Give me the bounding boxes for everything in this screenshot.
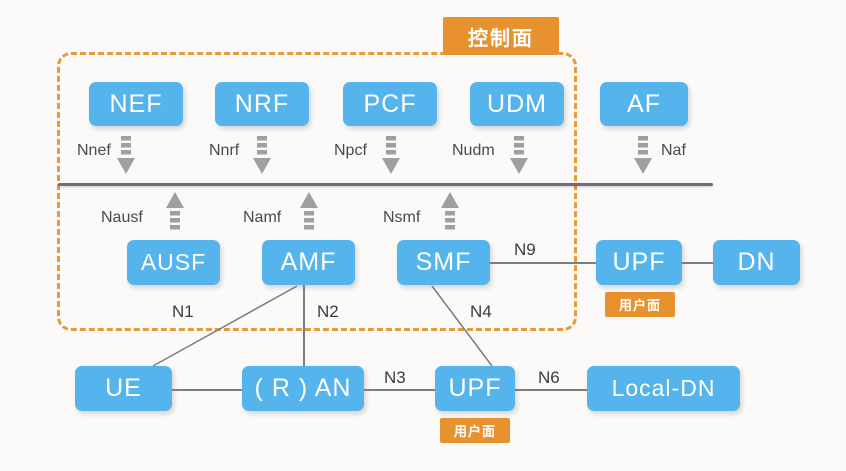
link-n3	[364, 389, 435, 391]
nf-box-local-dn[interactable]: Local-DN	[587, 366, 740, 411]
service-bus-arrow-up-icon	[299, 190, 319, 236]
service-bus-arrow-down-icon	[509, 136, 529, 182]
service-bus-arrow-down-icon	[252, 136, 272, 182]
service-based-interface-bus	[58, 183, 713, 186]
user-plane-tag-upf-bottom: 用户面	[440, 418, 510, 443]
service-label-namf: Namf	[243, 209, 281, 227]
control-plane-label: 控制面	[443, 17, 559, 55]
nf-box-af[interactable]: AF	[600, 82, 688, 126]
nf-box-amf[interactable]: AMF	[262, 240, 355, 285]
reference-point-label-n3: N3	[384, 368, 406, 388]
link-n6	[515, 389, 587, 391]
nf-box-nrf[interactable]: NRF	[215, 82, 309, 126]
link-upf-dn	[682, 262, 713, 264]
service-bus-arrow-up-icon	[440, 190, 460, 236]
service-label-naf: Naf	[661, 142, 686, 160]
nf-box-ausf[interactable]: AUSF	[127, 240, 220, 285]
user-plane-tag-upf-middle: 用户面	[605, 292, 675, 317]
nf-box-udm[interactable]: UDM	[470, 82, 564, 126]
service-label-nausf: Nausf	[101, 209, 143, 227]
service-label-nudm: Nudm	[452, 142, 495, 160]
nf-box-ran[interactable]: ( R ) AN	[242, 366, 364, 411]
reference-point-label-n1: N1	[172, 302, 194, 322]
service-label-npcf: Npcf	[334, 142, 367, 160]
nf-box-ue[interactable]: UE	[75, 366, 172, 411]
service-label-nnrf: Nnrf	[209, 142, 239, 160]
service-bus-arrow-down-icon	[381, 136, 401, 182]
service-bus-arrow-down-icon	[633, 136, 653, 182]
reference-point-label-n6: N6	[538, 368, 560, 388]
service-bus-arrow-down-icon	[116, 136, 136, 182]
service-bus-arrow-up-icon	[165, 190, 185, 236]
link-n2	[303, 285, 305, 366]
service-label-nnef: Nnef	[77, 142, 111, 160]
diagram-canvas: 控制面 NEF NRF PCF UDM AF Nnef Nnrf Npcf Nu…	[0, 0, 846, 471]
link-ue-ran	[172, 389, 242, 391]
nf-box-pcf[interactable]: PCF	[343, 82, 437, 126]
reference-point-label-n4: N4	[470, 302, 492, 322]
service-label-nsmf: Nsmf	[383, 209, 420, 227]
reference-point-label-n2: N2	[317, 302, 339, 322]
nf-box-dn[interactable]: DN	[713, 240, 800, 285]
link-n9	[490, 262, 596, 264]
nf-box-smf[interactable]: SMF	[397, 240, 490, 285]
nf-box-upf-middle[interactable]: UPF	[596, 240, 682, 285]
nf-box-nef[interactable]: NEF	[89, 82, 183, 126]
nf-box-upf-bottom[interactable]: UPF	[435, 366, 515, 411]
reference-point-label-n9: N9	[514, 240, 536, 260]
